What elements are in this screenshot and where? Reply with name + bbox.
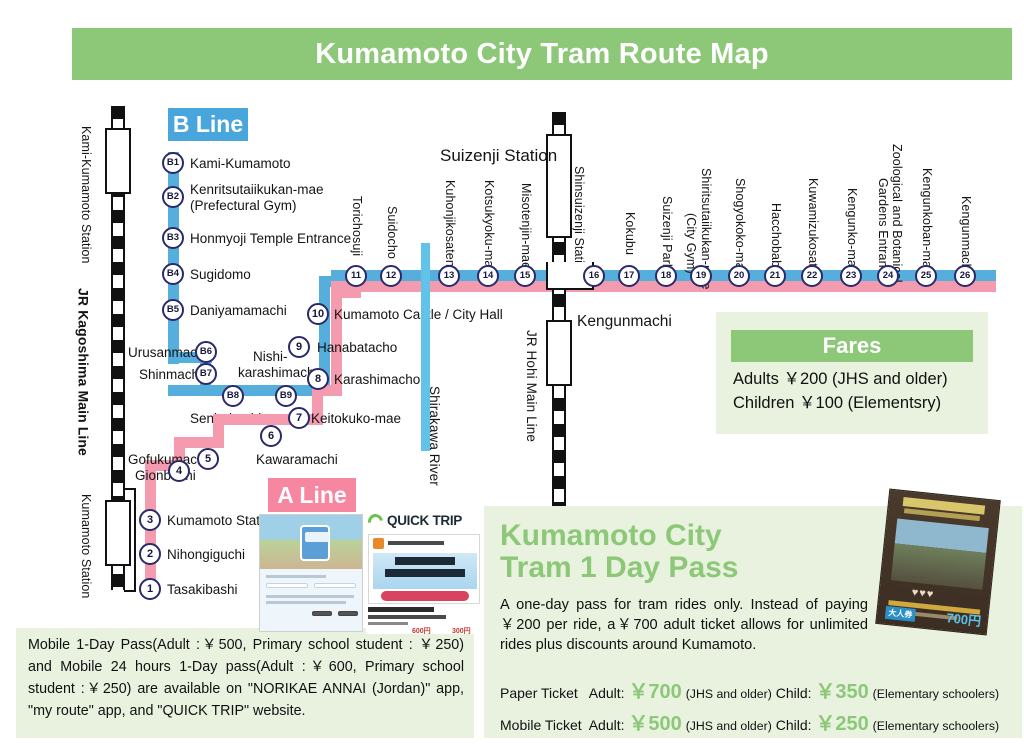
kami-kumamoto-station-box [105,128,131,194]
ticket-hearts-icon: ♥♥♥ [911,586,935,600]
quick-trip-footer-line1 [368,607,434,612]
page-title: Kumamoto City Tram Route Map [315,38,769,71]
a-line-badge: A Line [268,478,356,512]
station-node-1[interactable]: 1 [139,578,161,600]
quick-trip-card-header [373,538,477,550]
station-node-B6[interactable]: B6 [195,341,217,363]
quick-trip-price-child: 300円 [452,626,471,634]
day-pass-ticket-photo: ♥♥♥ 大人券 700円 [875,489,1001,636]
station-node-20[interactable]: 20 [728,265,750,287]
ticket-24h-line2 [266,595,354,598]
ticket-24h-footer-1 [312,611,332,616]
quick-trip-logo-text: QUICK TRIP [387,513,462,528]
paper-child-price: ￥350 [815,681,868,703]
paper-child-label: Child: [776,685,812,701]
station-node-24[interactable]: 24 [877,265,899,287]
ticket-24h-button-1 [266,583,308,588]
quick-trip-price-adult: 600円 [412,626,431,634]
station-label-9: Hanabatacho [317,340,397,355]
label-shinsuizenji-station: Kengunmachi [577,313,672,332]
station-label-26: Kengunmachi [959,196,972,274]
station-node-11[interactable]: 11 [345,265,367,287]
paper-adult-price: ￥700 [628,681,681,703]
fares-heading: Fares [731,330,973,362]
quick-trip-footer: 600円 300円 [368,607,480,633]
station-node-B9[interactable]: B9 [275,385,297,407]
quick-trip-card [368,534,480,604]
quick-trip-card-header-text [388,541,444,545]
station-node-5[interactable]: 5 [197,448,219,470]
station-label-B3: Honmyoji Temple Entrance [190,231,351,246]
paper-adult-label: Adult: [589,685,625,701]
station-node-14[interactable]: 14 [477,265,499,287]
b-line-vertical-upper [168,152,179,364]
station-label-2: Nihongiguchi [167,547,245,562]
station-node-B7[interactable]: B7 [195,363,217,385]
station-label-5: Gofukumachi [128,452,208,467]
shinsuizenji-station-box [546,320,572,386]
mobile-child-price: ￥250 [815,713,868,735]
quick-trip-footer-line3 [368,622,408,625]
ticket-photo-image [891,519,989,590]
paper-child-note: (Elementary schoolers) [873,687,999,701]
station-node-18[interactable]: 18 [655,265,677,287]
ticket-24h-line1 [266,575,326,578]
station-label-B2: Kenritsutaiikukan-mae [190,182,324,197]
station-node-19[interactable]: 19 [690,265,712,287]
ticket-24h-thumbnail [259,514,363,632]
station-label-20: Shogyokoko-mae [733,178,746,277]
mobile-child-note: (Elementary schoolers) [873,719,999,733]
kumamoto-transit-icon [373,538,384,549]
ticket-amount: 700円 [946,607,982,630]
station-label-B7: Shinmachi [139,367,202,382]
station-node-22[interactable]: 22 [801,265,823,287]
quick-trip-banner-line1 [395,557,455,565]
station-node-6[interactable]: 6 [260,425,282,447]
station-node-9[interactable]: 9 [288,336,310,358]
tram-icon [300,525,330,561]
quick-trip-banner-line2 [385,569,465,577]
quick-trip-logo: QUICK TRIP [366,512,482,532]
quick-trip-thumbnail: QUICK TRIP 600円 300円 [366,512,482,634]
station-node-3[interactable]: 3 [139,509,161,531]
station-label-18: Suizenji Park [660,196,673,270]
day-pass-title-line1: Kumamoto City [500,520,800,552]
station-node-2[interactable]: 2 [139,543,161,565]
station-label-21: Hacchobaba [769,203,782,274]
page-title-bar: Kumamoto City Tram Route Map [72,28,1012,80]
station-label-10: Kumamoto Castle / City Hall [334,307,503,322]
label-jr-hohi-main-line: JR Hohi Main Line [524,330,538,442]
label-suizenji-station: Suizenji Station [440,146,557,165]
station-node-12[interactable]: 12 [380,265,402,287]
quick-trip-ring-icon [366,512,386,532]
quick-trip-card-cta [381,591,469,601]
quick-trip-card-banner [373,553,477,589]
station-node-B1[interactable]: B1 [162,152,184,174]
label-jr-kagoshima-main-line: JR Kagoshima Main Line [76,288,91,456]
mobile-adult-label: Adult: [589,717,625,733]
station-label-8: Karashimacho [334,372,420,387]
station-node-15[interactable]: 15 [514,265,536,287]
mobile-adult-note: (JHS and older) [686,719,772,733]
station-label-B5: Daniyamamachi [190,303,287,318]
station-label-19-alt: (City Gym) [684,213,697,274]
ticket-24h-button-2 [314,583,356,588]
station-label-24: Zoological and Botanical [890,144,903,283]
mobile-adult-price: ￥500 [628,713,681,735]
fares-content: Adults ￥200 (JHS and older) Children ￥10… [733,368,993,416]
day-pass-title-line2: Tram 1 Day Pass [500,552,800,584]
jr-bracket [124,488,136,592]
mobile-ticket-label: Mobile Ticket [500,717,582,733]
day-pass-title: Kumamoto City Tram 1 Day Pass [500,520,800,584]
station-label-B2-alt: (Prefectural Gym) [190,198,297,213]
fares-children: Children ￥100 (Elementsry) [733,392,993,416]
mobile-pass-note: Mobile 1-Day Pass(Adult :￥500, Primary s… [28,634,464,723]
station-node-23[interactable]: 23 [840,265,862,287]
station-label-13: Kuhonjikosaten [443,180,456,267]
station-label-1: Tasakibashi [167,582,238,597]
station-node-7[interactable]: 7 [288,407,310,429]
station-node-16[interactable]: 16 [583,265,605,287]
ticket-adult-badge: 大人券 [885,606,916,622]
station-node-4[interactable]: 4 [168,460,190,482]
label-kami-kumamoto-station: Kami-Kumamoto Station [79,126,92,264]
station-node-8[interactable]: 8 [307,368,329,390]
station-node-B2[interactable]: B2 [162,186,184,208]
station-node-25[interactable]: 25 [915,265,937,287]
station-label-23: Kengunko-mae [845,188,858,274]
quick-trip-footer-line2 [368,615,446,619]
station-node-13[interactable]: 13 [438,265,460,287]
station-node-21[interactable]: 21 [764,265,786,287]
station-node-17[interactable]: 17 [618,265,640,287]
fares-adults: Adults ￥200 (JHS and older) [733,368,993,392]
station-label-11: Torichosuji [350,196,363,256]
station-label-14: Kotsukyoku-mae [482,180,495,275]
shinsuizenji-line1: Kengunmachi [577,313,672,330]
mobile-ticket-row: Mobile Ticket Adult: ￥500 (JHS and older… [500,707,999,736]
station-label-17: Kokubu [623,212,636,255]
station-node-10[interactable]: 10 [307,303,329,325]
paper-ticket-row: Paper Ticket Adult: ￥700 (JHS and older)… [500,675,999,704]
day-pass-description: A one-day pass for tram rides only. Inst… [500,596,868,656]
station-node-B5[interactable]: B5 [162,299,184,321]
label-shirakawa-river: Shirakawa River [427,386,441,486]
station-label-B1: Kami-Kumamoto [190,156,291,171]
station-label-15: Misotenjin-mae [519,183,532,269]
station-label-B4: Sugidomo [190,267,251,282]
station-node-B3[interactable]: B3 [162,227,184,249]
station-label-B9: Nishi- [253,349,288,364]
station-node-B4[interactable]: B4 [162,263,184,285]
station-label-7: Keitokuko-mae [311,411,401,426]
station-label-12: Suidocho [385,206,398,259]
station-node-26[interactable]: 26 [954,265,976,287]
b-line-badge: B Line [168,108,248,141]
label-kumamoto-station: Kumamoto Station [79,494,92,598]
ticket-24h-line3 [266,601,346,604]
station-label-25: Kengunkoban-mae [920,168,933,275]
station-label-6: Kawaramachi [256,452,338,467]
paper-adult-note: (JHS and older) [686,687,772,701]
mobile-child-label: Child: [776,717,812,733]
station-label-16: Shinsuizenji Station [572,166,585,277]
station-node-B8[interactable]: B8 [222,385,244,407]
ticket-24h-footer-2 [338,611,358,616]
paper-ticket-label: Paper Ticket [500,685,578,701]
